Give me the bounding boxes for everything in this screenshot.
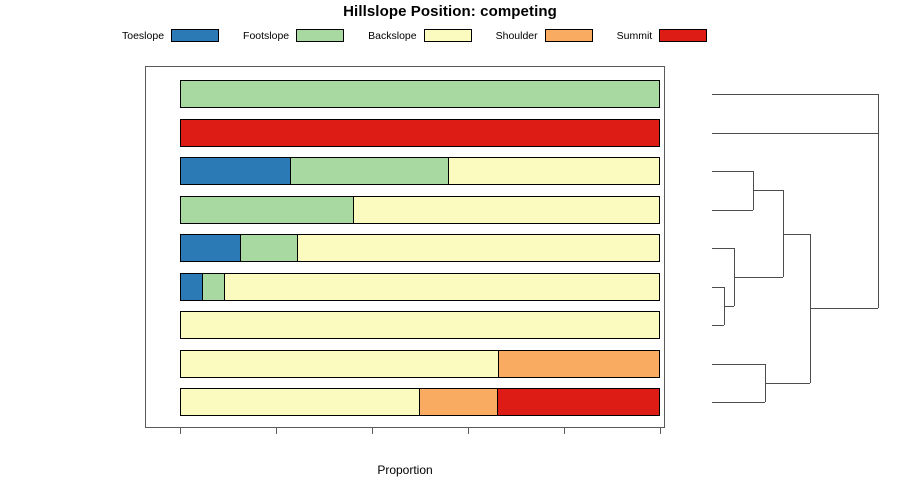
legend-label: Backslope <box>368 30 416 42</box>
dendrogram-link <box>878 113 879 308</box>
bar-segment-backslope <box>297 234 660 262</box>
bar-segment-shoulder <box>498 350 660 378</box>
bar-segment-footslope <box>240 234 299 262</box>
bar-segment-backslope <box>353 196 660 224</box>
bar-segment-footslope <box>290 157 449 185</box>
legend-item-summit: Summit <box>617 29 708 42</box>
bar-segment-toeslope <box>180 234 241 262</box>
dendrogram <box>670 66 900 428</box>
legend-label: Footslope <box>243 30 289 42</box>
bar-segment-backslope <box>180 350 499 378</box>
bar-segment-backslope <box>448 157 660 185</box>
legend-label: Toeslope <box>122 30 164 42</box>
x-tick <box>276 428 277 434</box>
x-tick <box>468 428 469 434</box>
bar-segment-backslope <box>180 311 660 339</box>
legend-swatch <box>296 29 344 42</box>
chart-canvas: Hillslope Position: competing ToeslopeFo… <box>0 0 900 500</box>
x-axis-title: Proportion <box>145 463 665 477</box>
legend-swatch <box>171 29 219 42</box>
bar-segment-shoulder <box>419 388 498 416</box>
legend-swatch <box>659 29 707 42</box>
bar-segment-footslope <box>202 273 225 301</box>
legend-item-footslope: Footslope <box>243 29 344 42</box>
x-tick <box>660 428 661 434</box>
dendrogram-link <box>712 133 878 134</box>
legend-label: Shoulder <box>496 30 538 42</box>
dendrogram-link <box>712 248 734 249</box>
legend-item-backslope: Backslope <box>368 29 471 42</box>
bar-row <box>180 119 660 147</box>
bar-segment-footslope <box>180 80 660 108</box>
dendrogram-link <box>712 364 765 365</box>
dendrogram-link <box>712 325 724 326</box>
bar-row <box>180 311 660 339</box>
bar-segment-backslope <box>180 388 421 416</box>
bar-segment-toeslope <box>180 273 203 301</box>
legend-swatch <box>545 29 593 42</box>
bar-segment-summit <box>180 119 660 147</box>
chart-title: Hillslope Position: competing <box>0 3 900 20</box>
dendrogram-link <box>712 171 753 172</box>
dendrogram-link <box>765 383 810 384</box>
bar-segment-footslope <box>180 196 354 224</box>
dendrogram-link <box>783 234 810 235</box>
dendrogram-link <box>712 402 765 403</box>
dendrogram-link <box>724 306 734 307</box>
y-axis-labels <box>0 66 140 428</box>
x-tick <box>180 428 181 434</box>
legend: ToeslopeFootslopeBackslopeShoulderSummit <box>122 27 782 44</box>
dendrogram-link <box>753 190 783 191</box>
legend-label: Summit <box>617 30 653 42</box>
dendrogram-link <box>810 308 878 309</box>
legend-swatch <box>424 29 472 42</box>
dendrogram-link <box>712 94 878 95</box>
bar-row <box>180 80 660 108</box>
bar-segment-backslope <box>224 273 660 301</box>
x-tick <box>372 428 373 434</box>
legend-item-toeslope: Toeslope <box>122 29 219 42</box>
bar-row <box>180 273 660 301</box>
x-tick <box>564 428 565 434</box>
dendrogram-link <box>734 277 783 278</box>
dendrogram-link <box>712 287 724 288</box>
bar-row <box>180 196 660 224</box>
bar-segment-summit <box>497 388 660 416</box>
bar-row <box>180 157 660 185</box>
bar-row <box>180 350 660 378</box>
bar-row <box>180 234 660 262</box>
legend-item-shoulder: Shoulder <box>496 29 593 42</box>
bar-row <box>180 388 660 416</box>
bar-segment-toeslope <box>180 157 291 185</box>
dendrogram-link <box>712 210 753 211</box>
